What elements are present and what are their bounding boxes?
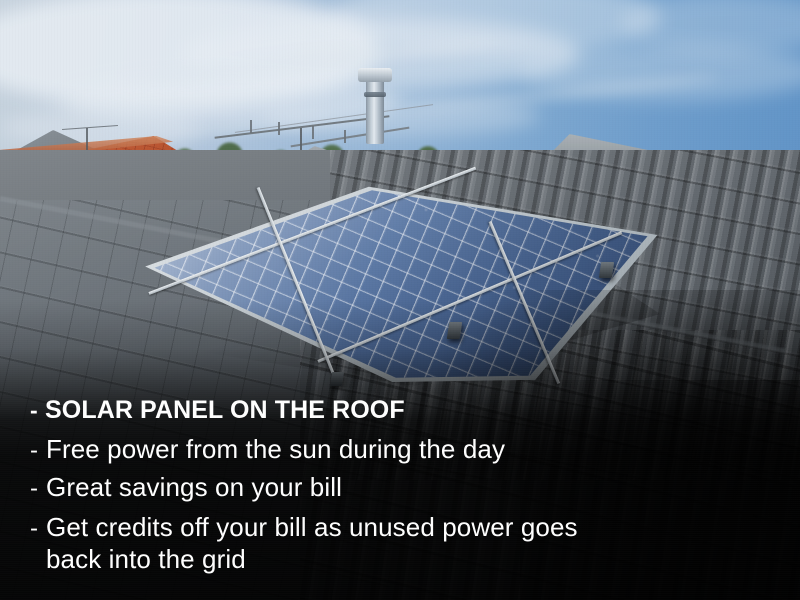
bullet-dash: -: [30, 517, 46, 541]
bullet-item-free-power: - Free power from the sun during the day: [30, 436, 770, 463]
antenna-element: [278, 122, 280, 135]
bullet-dash: -: [30, 439, 46, 463]
roof-flue-pipe: [366, 78, 384, 144]
bullet-item-savings: - Great savings on your bill: [30, 474, 770, 501]
roof-flue-band: [364, 92, 386, 97]
bullet-dash: -: [30, 477, 46, 501]
antenna-element: [344, 130, 346, 143]
solar-panel-slide: - SOLAR PANEL ON THE ROOF - Free power f…: [0, 0, 800, 600]
bullet-dash: -: [30, 399, 45, 422]
bullet-label: Great savings on your bill: [46, 474, 770, 500]
antenna-element: [250, 120, 252, 133]
antenna-element: [312, 126, 314, 139]
bullet-label: SOLAR PANEL ON THE ROOF: [45, 398, 770, 423]
caption-text-block: - SOLAR PANEL ON THE ROOF - Free power f…: [30, 398, 770, 575]
bullet-label: Get credits off your bill as unused powe…: [46, 512, 770, 575]
bullet-item-credits: - Get credits off your bill as unused po…: [30, 512, 770, 575]
roof-flue-cap: [358, 68, 392, 82]
bullet-item-heading: - SOLAR PANEL ON THE ROOF: [30, 398, 770, 423]
panel-mounting-foot: [599, 262, 614, 278]
bullet-label: Free power from the sun during the day: [46, 436, 770, 462]
